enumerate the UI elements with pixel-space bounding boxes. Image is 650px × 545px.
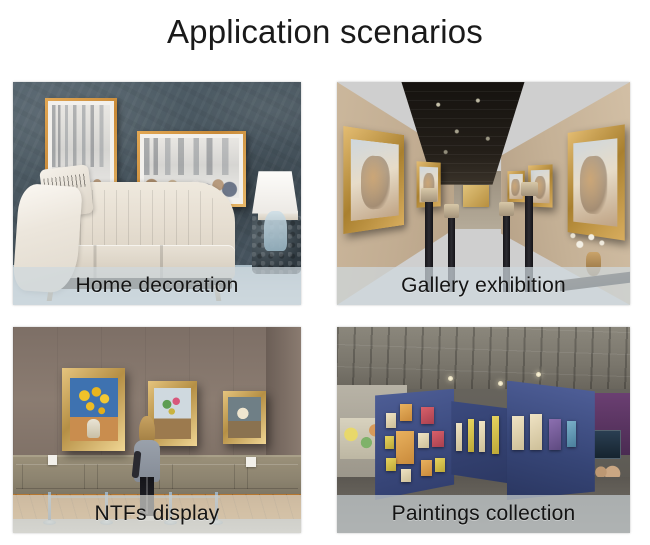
distant-artwork bbox=[463, 185, 489, 207]
framed-artwork bbox=[421, 460, 432, 476]
framed-artwork bbox=[421, 407, 434, 425]
framed-artwork bbox=[512, 416, 523, 449]
blue-partition-wall-center bbox=[451, 401, 510, 483]
framed-artwork bbox=[400, 404, 412, 421]
painting-artwork bbox=[70, 378, 118, 441]
scenario-card-paintings-collection[interactable]: Paintings collection bbox=[337, 327, 630, 533]
framed-painting-sunflowers bbox=[62, 368, 125, 450]
framed-artwork bbox=[549, 419, 560, 450]
framed-artwork bbox=[435, 458, 445, 472]
framed-artwork bbox=[401, 469, 411, 482]
pedestal-sculpture bbox=[421, 188, 438, 202]
scenario-card-home-decoration[interactable]: Home decoration bbox=[13, 82, 301, 305]
framed-painting-large-left bbox=[343, 126, 404, 234]
wall-label-plaque bbox=[246, 457, 256, 467]
photo-ntfs-display: NTFs display bbox=[13, 327, 301, 533]
painting-artwork bbox=[573, 138, 617, 227]
card-caption-home-decoration: Home decoration bbox=[13, 267, 301, 305]
page-title: Application scenarios bbox=[0, 14, 650, 50]
slide-canvas: Application scenarios bbox=[0, 0, 650, 545]
track-light bbox=[498, 381, 503, 386]
scenario-card-ntfs-display[interactable]: NTFs display bbox=[13, 327, 301, 533]
framed-artwork bbox=[418, 433, 429, 447]
painting-artwork bbox=[351, 139, 398, 221]
pedestal-sculpture bbox=[499, 202, 514, 216]
framed-artwork bbox=[530, 414, 542, 450]
blue-partition-wall-right bbox=[507, 381, 595, 500]
framed-artwork bbox=[386, 458, 395, 471]
framed-painting-large-right bbox=[567, 124, 624, 240]
lamp-shade bbox=[252, 171, 298, 213]
photo-paintings-collection: Paintings collection bbox=[337, 327, 630, 533]
photo-gallery-exhibition: Gallery exhibition bbox=[337, 82, 630, 305]
framed-artwork-tall bbox=[479, 421, 485, 452]
framed-artwork bbox=[432, 431, 444, 447]
painting-artwork bbox=[228, 397, 261, 438]
framed-artwork bbox=[386, 413, 396, 427]
framed-painting-right bbox=[223, 391, 266, 445]
framed-artwork-tall bbox=[492, 416, 499, 454]
blue-partition-wall-left bbox=[375, 389, 454, 500]
card-caption-paintings-collection: Paintings collection bbox=[337, 495, 630, 533]
flower-arrangement bbox=[566, 227, 613, 256]
card-caption-ntfs-display: NTFs display bbox=[13, 495, 301, 533]
framed-artwork bbox=[385, 436, 394, 449]
framed-artwork bbox=[567, 421, 577, 447]
pedestal-sculpture bbox=[521, 182, 538, 196]
pedestal-sculpture bbox=[444, 204, 459, 218]
framed-artwork-large bbox=[396, 431, 413, 464]
lamp-base bbox=[264, 211, 287, 251]
scenario-card-gallery-exhibition[interactable]: Gallery exhibition bbox=[337, 82, 630, 305]
card-caption-gallery-exhibition: Gallery exhibition bbox=[337, 267, 630, 305]
wall-label-plaque bbox=[48, 455, 58, 465]
framed-artwork-tall bbox=[468, 419, 474, 452]
photo-home-decoration: Home decoration bbox=[13, 82, 301, 305]
framed-artwork-tall bbox=[456, 423, 462, 451]
industrial-ceiling bbox=[337, 327, 630, 389]
